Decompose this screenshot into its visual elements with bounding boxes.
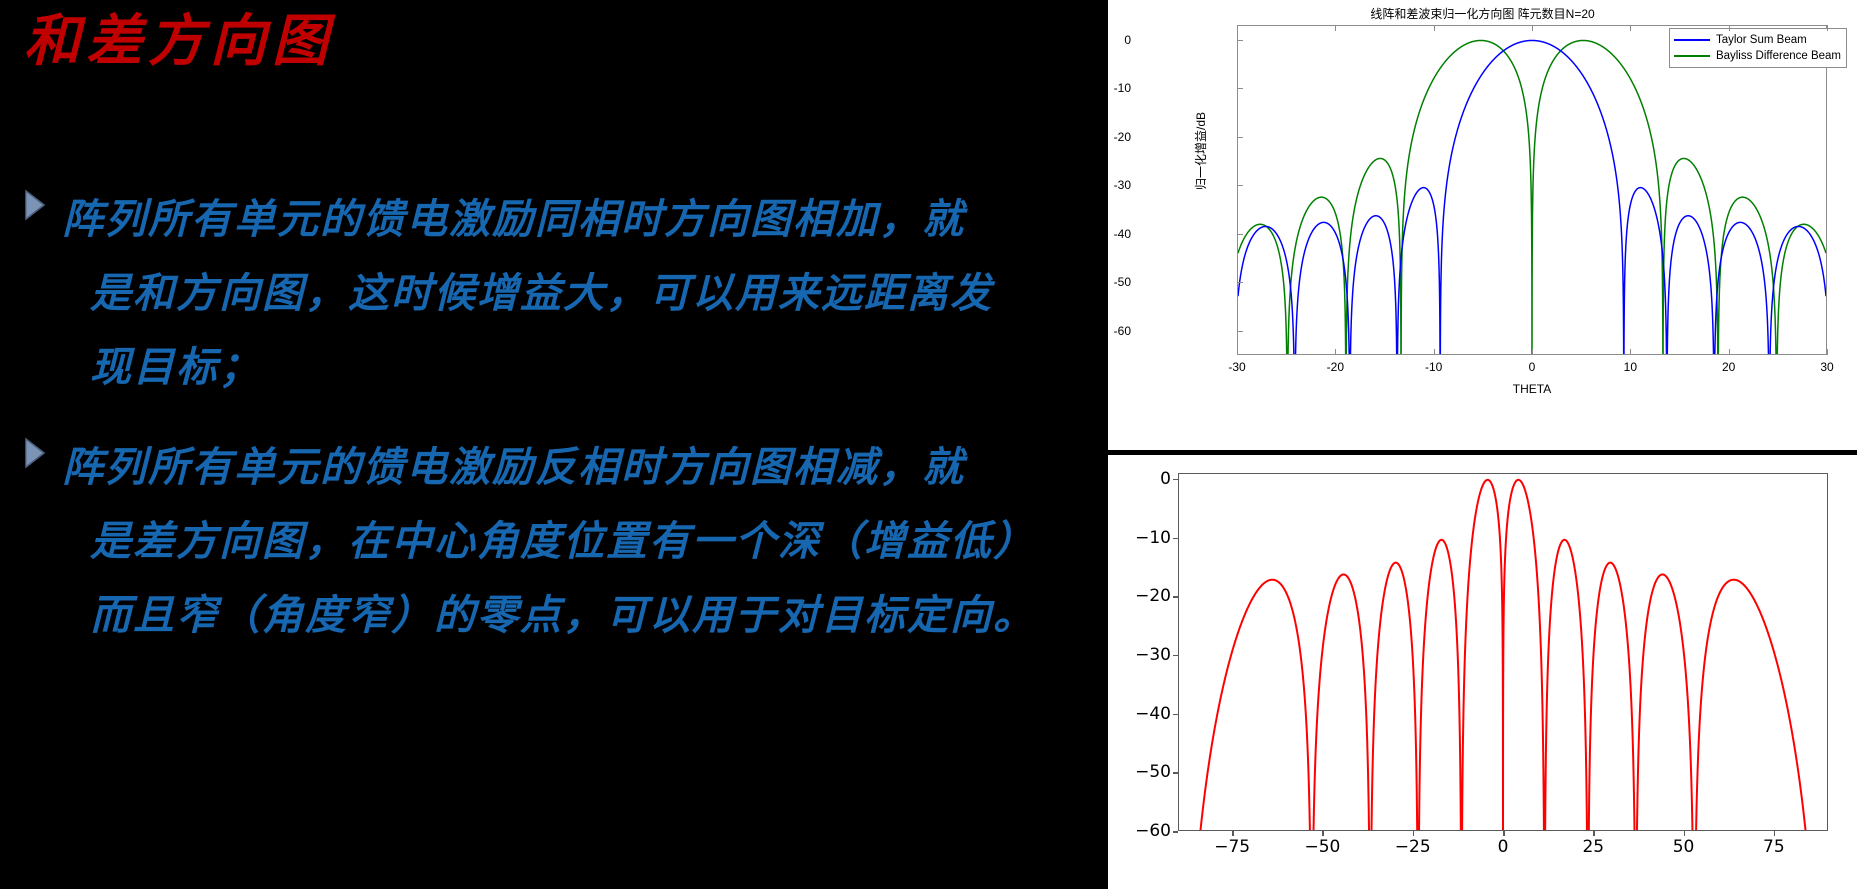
x-axis-tick-label: -30	[1228, 360, 1245, 374]
x-axis-tick-mark	[1684, 831, 1686, 836]
x-axis-tick-mark	[1593, 831, 1595, 836]
x-axis-tick-label: 50	[1673, 837, 1695, 857]
bullet-line: 而且窄（角度窄）的零点，可以用于对目标定向。	[62, 578, 1085, 652]
x-axis-tick-label: −75	[1214, 837, 1250, 857]
x-axis-tick-mark	[1335, 349, 1336, 355]
x-axis-tick-mark	[1630, 349, 1631, 355]
legend-label: Taylor Sum Beam	[1716, 34, 1807, 46]
x-axis-tick-mark	[1232, 831, 1234, 836]
bullet-line: 阵列所有单元的馈电激励反相时方向图相减，就	[62, 430, 1085, 504]
y-axis-tick-mark	[1237, 282, 1243, 283]
chart-curves	[1179, 474, 1827, 830]
x-axis-tick-label: 75	[1763, 837, 1785, 857]
y-axis-tick-label: 0	[1124, 33, 1131, 47]
chart-legend: Taylor Sum Beam Bayliss Difference Beam	[1669, 28, 1847, 68]
x-axis-tick-label: 0	[1529, 360, 1536, 374]
y-axis-tick-mark	[1173, 831, 1178, 833]
y-axis-tick-mark	[1173, 714, 1178, 716]
chart-series-line	[1238, 40, 1826, 354]
x-axis-tick-mark	[1237, 349, 1238, 355]
x-axis-tick-mark	[1503, 831, 1505, 836]
bullet-line: 阵列所有单元的馈电激励同相时方向图相加，就	[62, 182, 1085, 256]
y-axis-tick-mark	[1173, 479, 1178, 481]
x-axis-tick-label: -20	[1327, 360, 1344, 374]
list-item: 阵列所有单元的馈电激励反相时方向图相减，就 是差方向图，在中心角度位置有一个深（…	[10, 430, 1085, 652]
legend-swatch-bayliss	[1674, 55, 1710, 57]
legend-item: Bayliss Difference Beam	[1674, 48, 1841, 64]
x-axis-tick-label: 25	[1582, 837, 1604, 857]
y-axis-tick-mark	[1173, 655, 1178, 657]
x-axis-tick-mark	[1827, 349, 1828, 355]
x-axis-tick-label: 30	[1820, 360, 1833, 374]
chart-x-axis-label: THETA	[1237, 382, 1827, 396]
arrow-bullet-icon	[22, 436, 50, 470]
y-axis-tick-label: −20	[1135, 586, 1171, 606]
list-item-text: 阵列所有单元的馈电激励反相时方向图相减，就 是差方向图，在中心角度位置有一个深（…	[62, 430, 1085, 652]
y-axis-tick-label: 0	[1160, 469, 1171, 489]
list-item-text: 阵列所有单元的馈电激励同相时方向图相加，就 是和方向图，这时候增益大，可以用来远…	[62, 182, 1085, 404]
x-axis-tick-mark	[1729, 25, 1730, 31]
presentation-slide: 和差方向图 阵列所有单元的馈电激励同相时方向图相加，就 是和方向图，这时候增益大…	[0, 0, 1089, 889]
list-item: 阵列所有单元的馈电激励同相时方向图相加，就 是和方向图，这时候增益大，可以用来远…	[10, 182, 1085, 404]
y-axis-tick-label: −10	[1135, 528, 1171, 548]
y-axis-tick-label: −50	[1135, 762, 1171, 782]
x-axis-tick-mark	[1729, 349, 1730, 355]
y-axis-tick-mark	[1237, 331, 1243, 332]
bullet-list: 阵列所有单元的馈电激励同相时方向图相加，就 是和方向图，这时候增益大，可以用来远…	[10, 182, 1085, 678]
x-axis-tick-mark	[1335, 25, 1336, 31]
x-axis-tick-label: 20	[1722, 360, 1735, 374]
page-title: 和差方向图	[24, 10, 334, 74]
sum-difference-pattern-chart: 线阵和差波束归一化方向图 阵元数目N=20 归一化增益/dB THETA Tay…	[1108, 0, 1857, 450]
charts-column: 线阵和差波束归一化方向图 阵元数目N=20 归一化增益/dB THETA Tay…	[1089, 0, 1857, 889]
slide-root: 和差方向图 阵列所有单元的馈电激励同相时方向图相加，就 是和方向图，这时候增益大…	[0, 0, 1857, 889]
chart-title: 线阵和差波束归一化方向图 阵元数目N=20	[1108, 5, 1857, 22]
chart-plot-area	[1237, 25, 1827, 355]
y-axis-tick-mark	[1237, 234, 1243, 235]
x-axis-tick-label: −50	[1304, 837, 1340, 857]
arrow-bullet-icon	[22, 188, 50, 222]
y-axis-tick-mark	[1237, 137, 1243, 138]
legend-item: Taylor Sum Beam	[1674, 32, 1841, 48]
y-axis-tick-mark	[1237, 185, 1243, 186]
x-axis-tick-mark	[1434, 25, 1435, 31]
x-axis-tick-mark	[1434, 349, 1435, 355]
bullet-line: 现目标；	[62, 330, 1085, 404]
y-axis-tick-mark	[1237, 88, 1243, 89]
chart-curves	[1238, 26, 1826, 354]
x-axis-tick-mark	[1322, 831, 1324, 836]
difference-pattern-chart: 0−10−20−30−40−50−60−75−50−250255075	[1108, 455, 1857, 889]
y-axis-tick-label: -20	[1114, 130, 1131, 144]
x-axis-tick-mark	[1237, 25, 1238, 31]
chart-series-line	[1179, 480, 1827, 830]
chart-y-axis-label: 归一化增益/dB	[1192, 112, 1209, 190]
x-axis-tick-label: 0	[1498, 837, 1509, 857]
bullet-line: 是和方向图，这时候增益大，可以用来远距离发	[62, 256, 1085, 330]
y-axis-tick-label: -10	[1114, 81, 1131, 95]
x-axis-tick-mark	[1774, 831, 1776, 836]
y-axis-tick-label: -50	[1114, 275, 1131, 289]
x-axis-tick-mark	[1413, 831, 1415, 836]
legend-swatch-taylor	[1674, 39, 1710, 41]
y-axis-tick-label: −60	[1135, 821, 1171, 841]
y-axis-tick-mark	[1237, 40, 1243, 41]
x-axis-tick-mark	[1532, 25, 1533, 31]
y-axis-tick-mark	[1173, 596, 1178, 598]
y-axis-tick-label: -30	[1114, 178, 1131, 192]
y-axis-tick-label: -60	[1114, 324, 1131, 338]
x-axis-tick-mark	[1630, 25, 1631, 31]
y-axis-tick-label: −40	[1135, 704, 1171, 724]
x-axis-tick-label: −25	[1395, 837, 1431, 857]
y-axis-tick-label: −30	[1135, 645, 1171, 665]
y-axis-tick-mark	[1173, 772, 1178, 774]
x-axis-tick-mark	[1827, 25, 1828, 31]
x-axis-tick-label: -10	[1425, 360, 1442, 374]
chart-plot-area	[1178, 473, 1828, 831]
y-axis-tick-label: -40	[1114, 227, 1131, 241]
x-axis-tick-label: 10	[1624, 360, 1637, 374]
bullet-line: 是差方向图，在中心角度位置有一个深（增益低）	[62, 504, 1085, 578]
x-axis-tick-mark	[1532, 349, 1533, 355]
legend-label: Bayliss Difference Beam	[1716, 50, 1841, 62]
y-axis-tick-mark	[1173, 538, 1178, 540]
